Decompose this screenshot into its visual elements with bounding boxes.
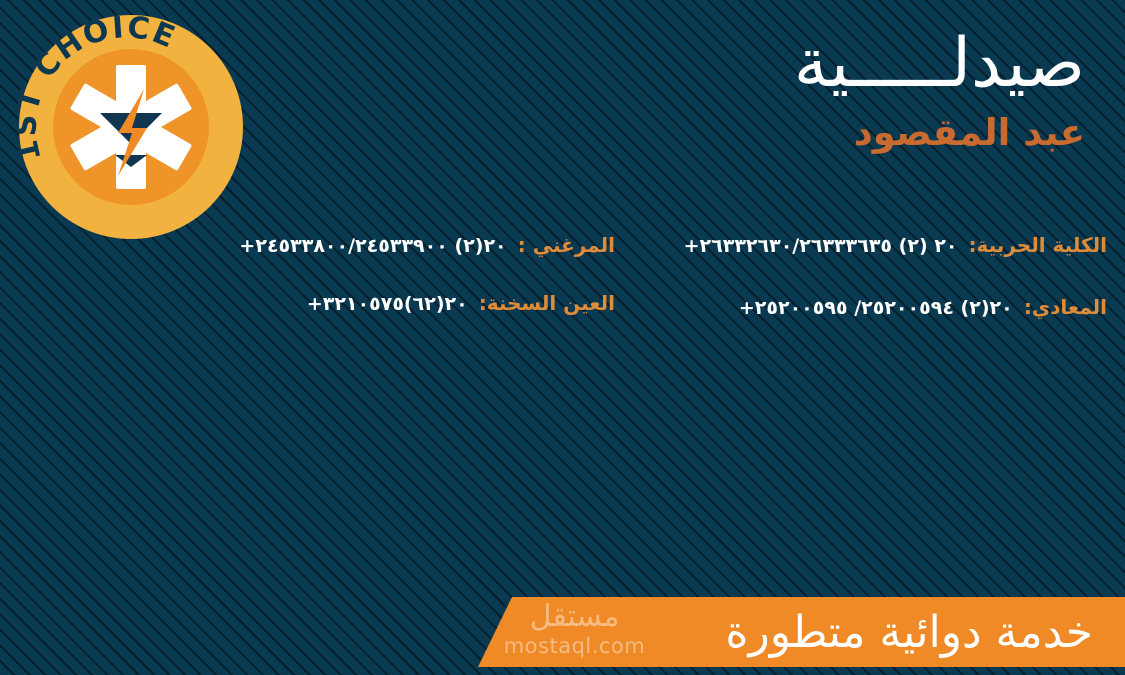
contact-row: العين السخنة: +٢٠(٦٢)٣٢١٠٥٧٥ — [195, 290, 615, 318]
contact-row: الكلية الحربية: +٢٠ (٢) ٢٦٣٣٢٦٣٠/٢٦٣٣٣٦٣… — [637, 232, 1107, 260]
contact-column-left: المرغني : +٢٠(٢) ٢٤٥٣٣٨٠٠/٢٤٥٣٣٩٠٠ العين… — [195, 232, 615, 343]
branch-label: المعادي: — [1024, 295, 1107, 319]
page-subtitle: عبد المقصود — [794, 110, 1085, 156]
branch-phone[interactable]: +٢٠(٢) ٢٥٢٠٠٥٩٤/ ٢٥٢٠٠٥٩٥ — [739, 296, 1013, 322]
contact-row: المعادي: +٢٠(٢) ٢٥٢٠٠٥٩٤/ ٢٥٢٠٠٥٩٥ — [637, 294, 1107, 322]
page-title: صيدلـــــية — [794, 26, 1085, 102]
branch-phone[interactable]: +٢٠(٢) ٢٤٥٣٣٨٠٠/٢٤٥٣٣٩٠٠ — [239, 234, 506, 260]
branch-phone[interactable]: +٢٠(٦٢)٣٢١٠٥٧٥ — [307, 292, 468, 318]
business-card: 1ST CHOICE صيدلـــــية عبد المقصود — [0, 0, 1125, 675]
branch-phone[interactable]: +٢٠ (٢) ٢٦٣٣٢٦٣٠/٢٦٣٣٣٦٣٥ — [684, 234, 958, 260]
brand-heading-block: صيدلـــــية عبد المقصود — [794, 26, 1085, 156]
branch-label: العين السخنة: — [479, 291, 615, 315]
tagline-banner: خدمة دوائية متطورة — [478, 597, 1125, 667]
contact-row: المرغني : +٢٠(٢) ٢٤٥٣٣٨٠٠/٢٤٥٣٣٩٠٠ — [195, 232, 615, 260]
branch-label: المرغني : — [518, 233, 615, 257]
company-logo: 1ST CHOICE — [18, 14, 244, 240]
contact-column-right: الكلية الحربية: +٢٠ (٢) ٢٦٣٣٢٦٣٠/٢٦٣٣٣٦٣… — [637, 232, 1107, 347]
branch-label: الكلية الحربية: — [969, 233, 1107, 257]
tagline-text: خدمة دوائية متطورة — [725, 607, 1093, 658]
